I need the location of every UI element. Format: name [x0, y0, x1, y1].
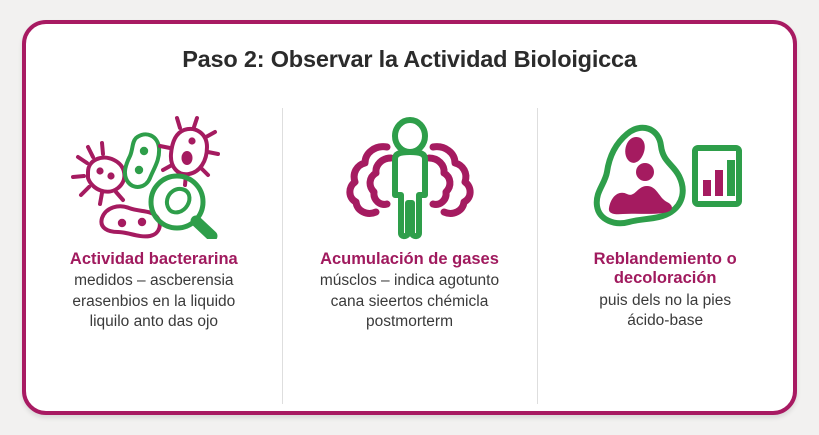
infographic-card: Paso 2: Observar la Actividad Bioloigicc…	[22, 20, 797, 415]
column-heading: Actividad bacterarina	[70, 250, 238, 269]
column-body: músclos – indica agotunto cana sieertos …	[320, 271, 499, 331]
column-heading: Reblandemiento o decoloración	[550, 250, 780, 289]
column-heading: Acumulación de gases	[320, 250, 499, 269]
page-title: Paso 2: Observar la Actividad Bioloigicc…	[26, 46, 793, 73]
columns-container: Actividad bacterarina medidos – ascberen…	[26, 106, 793, 406]
column-body: medidos – ascberensia erasenbios en la l…	[72, 271, 235, 331]
stain-barchart-icon	[585, 106, 745, 246]
column-bacterial-activity: Actividad bacterarina medidos – ascberen…	[26, 106, 282, 406]
column-softening-discoloration: Reblandemiento o decoloración puis dels …	[537, 106, 793, 406]
bacteria-magnifier-icon	[66, 106, 241, 246]
person-gas-icon	[335, 106, 485, 246]
column-gas-accumulation: Acumulación de gases músclos – indica ag…	[282, 106, 538, 406]
column-body: puis dels no la pies ácido-base	[599, 291, 731, 331]
